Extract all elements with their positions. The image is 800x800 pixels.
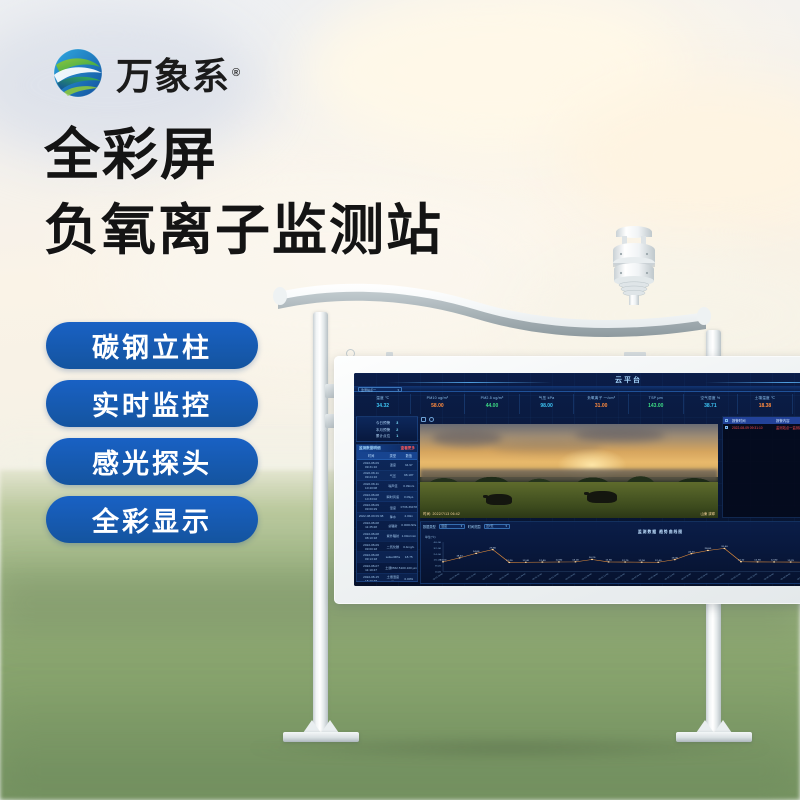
metric-value: 34.32 <box>356 402 410 411</box>
chart-filter-label-2: 时间范围 <box>468 524 481 529</box>
metric-value: 143.00 <box>629 402 683 411</box>
svg-text:12.70: 12.70 <box>622 560 629 562</box>
alarm-content: 监测站点一监测超标预警（超标值） <box>776 425 800 430</box>
stat-label: 累计点位 <box>376 433 390 440</box>
svg-text:12.80: 12.80 <box>556 560 563 562</box>
trend-chart-panel: 数据类型 温度 ▾ 时间范围 近7天 ▾ <box>420 521 800 584</box>
metric-cell-6: TSP μm143.00 <box>629 394 684 414</box>
metric-label: TSP μm <box>629 394 683 402</box>
svg-text:12.40: 12.40 <box>523 560 530 562</box>
metric-label: 负氧离子 一/cm³ <box>574 394 628 402</box>
data-table-more-link[interactable]: 查看更多 <box>401 446 415 451</box>
svg-text:08-04 00:00: 08-04 00:00 <box>631 573 643 581</box>
chevron-down-icon: ▾ <box>461 524 462 528</box>
svg-text:08-05 12:00: 08-05 12:00 <box>731 573 743 581</box>
table-row[interactable]: 2022-08-09 09:00:29湿度0736.36478 <box>357 502 417 513</box>
data-table-title: 监测数据明细 <box>359 446 381 451</box>
alarm-row[interactable]: 2022-08-09 09:31:10 监测站点一监测超标预警（超标值） <box>723 424 800 431</box>
svg-text:08-02 00:00: 08-02 00:00 <box>499 573 511 581</box>
video-location: 山東 濟寧 <box>700 511 715 516</box>
alarm-panel: 报警时间 报警内容 2022-08-09 09:31:10 监测站点一监测超标预… <box>722 416 800 518</box>
svg-text:08-04 06:00: 08-04 06:00 <box>648 573 660 581</box>
stat-value: 1 <box>396 433 398 440</box>
metric-label: 土壤温度 ℃ <box>738 394 792 402</box>
table-cell: 0736.36478 <box>401 502 417 513</box>
dashboard-title: 云平台 <box>354 375 800 385</box>
svg-text:12.60: 12.60 <box>539 560 546 562</box>
svg-text:08-03 00:00: 08-03 00:00 <box>565 573 577 581</box>
metric-label: 温度 ℃ <box>356 394 410 402</box>
alarm-table-header: 报警时间 报警内容 <box>723 417 800 424</box>
table-cell: 1.00m/min <box>401 531 417 542</box>
metric-label: 空气湿度 % <box>684 394 738 402</box>
table-row[interactable]: 2022-08-09 09:38降水2.00m <box>357 512 417 520</box>
table-cell: 土壤PM2.5 <box>385 562 400 573</box>
svg-text:08-04 18:00: 08-04 18:00 <box>681 573 693 581</box>
svg-text:08-01 06:00: 08-01 06:00 <box>449 573 461 581</box>
svg-text:24.20: 24.20 <box>688 552 695 554</box>
metric-cell-3: PM2.5 ug/m³44.00 <box>465 394 520 414</box>
svg-text:08-05 00:00: 08-05 00:00 <box>698 573 710 581</box>
metric-cell-8: 土壤温度 ℃18.38 <box>738 394 793 414</box>
chart-title: 监测数据 趋势曲线图 <box>421 530 800 535</box>
table-cell: 2022-08-08 11:35:28 <box>357 520 385 531</box>
svg-text:29.80: 29.80 <box>489 548 496 550</box>
svg-text:32.00: 32.00 <box>434 547 442 550</box>
svg-text:08-03 12:00: 08-03 12:00 <box>598 573 610 581</box>
table-cell: 降水 <box>385 512 400 520</box>
table-cell: 0.09m/s <box>401 481 417 492</box>
metric-value: 18.38 <box>738 402 792 411</box>
table-row[interactable]: 2022-08-11 10:40:08噪声值0.09m/s <box>357 481 417 492</box>
chart-range-value: 近7天 <box>486 524 493 528</box>
metric-label: 气压 kPa <box>520 394 574 402</box>
svg-text:08-02 06:00: 08-02 06:00 <box>516 573 528 581</box>
svg-text:24.00: 24.00 <box>434 552 442 555</box>
svg-text:12.50: 12.50 <box>638 560 645 562</box>
svg-text:08-05 18:00: 08-05 18:00 <box>747 573 759 581</box>
svg-text:08-03 06:00: 08-03 06:00 <box>582 573 594 581</box>
table-cell: 土壤湿度时 <box>385 573 400 582</box>
svg-text:12.80: 12.80 <box>771 560 778 562</box>
chevron-down-icon: ▾ <box>397 388 399 392</box>
table-cell: 34.97 <box>401 460 417 471</box>
table-row[interactable]: 2022-08-08 11:35:28总辐射0.0001hPa <box>357 520 417 531</box>
table-column-header: 时间 <box>357 452 385 460</box>
station-select-value: 监测站点一 <box>361 388 376 392</box>
metric-label: 噪声 db <box>793 394 800 402</box>
metric-cell-7: 空气湿度 %38.71 <box>684 394 739 414</box>
svg-text:08-05 06:00: 08-05 06:00 <box>714 573 726 581</box>
table-cell: 2022-08-11 10:40:08 <box>357 481 385 492</box>
svg-text:08-04 12:00: 08-04 12:00 <box>665 573 677 581</box>
metric-cell-1: 温度 ℃34.32 <box>356 394 411 414</box>
svg-text:08-01 18:00: 08-01 18:00 <box>482 573 494 581</box>
table-cell: 2022-08-08 08:10:18 <box>357 531 385 542</box>
chart-range-select[interactable]: 近7天 ▾ <box>484 524 510 529</box>
metric-cell-2: PM10 ug/m³58.00 <box>411 394 466 414</box>
table-cell: 0.00% <box>401 573 417 582</box>
table-cell: 总辐射 <box>385 520 400 531</box>
svg-text:08-02 18:00: 08-02 18:00 <box>549 573 561 581</box>
metric-label: PM2.5 ug/m³ <box>465 394 519 402</box>
table-column-header: 类型 <box>385 452 400 460</box>
metric-value: 44.00 <box>465 402 519 411</box>
table-cell: 2022-08-09 09:00:18 <box>357 541 385 552</box>
dashboard-topbar <box>354 386 800 392</box>
video-toolbar <box>420 416 718 423</box>
table-row[interactable]: 2022-08-08 10:33:02瞬时风速0.09μL <box>357 491 417 502</box>
table-cell: 2022-08-09 09:38 <box>357 512 385 520</box>
table-cell: 2022-08-08 10:33:02 <box>357 491 385 502</box>
metric-value: 58.00 <box>411 402 465 411</box>
svg-text:12.70: 12.70 <box>787 560 794 562</box>
svg-text:13.10: 13.10 <box>738 560 745 562</box>
svg-text:18.40: 18.40 <box>456 556 463 558</box>
svg-text:28.60: 28.60 <box>705 548 712 550</box>
metric-value: 48.00 <box>793 402 800 411</box>
alarm-col-content: 报警内容 <box>776 418 800 423</box>
table-cell: 0.4mg/L <box>401 541 417 552</box>
station-select[interactable]: 监测站点一 ▾ <box>358 387 402 392</box>
base-plate-right <box>676 726 752 742</box>
metric-value: 31.00 <box>574 402 628 411</box>
trend-line-chart: 0.008.0016.0024.0032.0040.0013.0008-01 0… <box>425 538 800 581</box>
table-row[interactable]: 2022-08-08 08:10:18紫外辐射1.00m/min <box>357 531 417 542</box>
dashboard-screen[interactable]: 云平台 监测站点一 ▾ admin 退出 温度 ℃34.32PM10 ug/m³… <box>354 373 800 586</box>
cow-2 <box>587 491 617 503</box>
svg-text:08-01 12:00: 08-01 12:00 <box>466 573 478 581</box>
metric-value: 38.71 <box>684 402 738 411</box>
checkbox-icon[interactable] <box>725 419 728 422</box>
table-cell: 2022-08-11 09:24:16 <box>357 470 385 481</box>
table-cell: 2022-08-08 09:13:18 <box>357 552 385 563</box>
monitoring-station: 云平台 监测站点一 ▾ admin 退出 温度 ℃34.32PM10 ug/m³… <box>0 0 800 800</box>
alarm-time: 2022-08-09 09:31:10 <box>732 426 772 430</box>
svg-text:08-01 00:00: 08-01 00:00 <box>433 573 445 581</box>
table-cell: 二氧化碳 <box>385 541 400 552</box>
svg-text:16.20: 16.20 <box>589 557 596 559</box>
table-row[interactable]: 2022-08-07 11:10:47土壤PM2.5100.100 μm <box>357 562 417 573</box>
checkbox-icon[interactable] <box>725 426 728 429</box>
table-cell: 2022-08-07 11:10:47 <box>357 562 385 573</box>
table-cell: 噪声值 <box>385 481 400 492</box>
table-cell: 温度 <box>385 460 400 471</box>
stat-row-3: 累计点位1 <box>359 433 415 440</box>
svg-text:16.00: 16.00 <box>672 558 679 560</box>
led-display-monitor: 云平台 监测站点一 ▾ admin 退出 温度 ℃34.32PM10 ug/m³… <box>334 356 800 604</box>
svg-text:31.40: 31.40 <box>721 546 728 548</box>
video-panel: 时间: 2022/7/13 06:42 山東 濟寧 <box>420 416 718 518</box>
chart-filter-label-1: 数据类型 <box>423 524 436 529</box>
table-cell: 18.75 <box>401 552 417 563</box>
svg-text:08-02 12:00: 08-02 12:00 <box>532 573 544 581</box>
table-cell: soilecMPa <box>385 552 400 563</box>
svg-text:12.90: 12.90 <box>754 560 761 562</box>
metric-cell-4: 气压 kPa98.00 <box>520 394 575 414</box>
chart-toolbar: 数据类型 温度 ▾ 时间范围 近7天 ▾ <box>421 522 800 530</box>
svg-text:12.40: 12.40 <box>655 560 662 562</box>
table-cell: 2022-08-09 09:00:29 <box>357 502 385 513</box>
table-column-header: 数值 <box>401 452 417 460</box>
metric-strip: 温度 ℃34.32PM10 ug/m³58.00PM2.5 ug/m³44.00… <box>356 394 800 414</box>
data-table-header: 监测数据明细 查看更多 <box>357 445 417 452</box>
svg-text:08-06 06:00: 08-06 06:00 <box>780 573 792 581</box>
monitoring-data-table: 时间类型数值 2022-08-09 09:31:10温度34.972022-08… <box>357 452 417 582</box>
table-cell: 湿度 <box>385 502 400 513</box>
svg-text:12.90: 12.90 <box>605 560 612 562</box>
svg-text:24.60: 24.60 <box>473 551 480 553</box>
table-row[interactable]: 2022-08-09 09:00:18二氧化碳0.4mg/L <box>357 541 417 552</box>
chart-type-select[interactable]: 温度 ▾ <box>439 524 465 529</box>
table-row[interactable]: 2022-08-11 09:24:16气压98.187 <box>357 470 417 481</box>
left-column: 今日预警3本月预警2累计点位1 监测数据明细 查看更多 时间类型数值 2022-… <box>356 416 418 584</box>
svg-text:12.20: 12.20 <box>506 560 513 562</box>
table-row[interactable]: 2022-08-15 15:20:38土壤湿度时0.00% <box>357 573 417 582</box>
svg-text:08-06 00:00: 08-06 00:00 <box>764 573 776 581</box>
table-cell: 2022-08-09 09:31:10 <box>357 460 385 471</box>
metric-cell-5: 负氧离子 一/cm³31.00 <box>574 394 629 414</box>
fullscreen-icon[interactable] <box>421 417 426 422</box>
svg-text:13.00: 13.00 <box>440 560 447 562</box>
svg-text:0.00: 0.00 <box>435 570 441 573</box>
carbon-steel-post-left <box>313 312 328 732</box>
table-cell: 100.100 μm <box>401 562 417 573</box>
metric-cell-9: 噪声 db48.00 <box>793 394 800 414</box>
metric-value: 98.00 <box>520 402 574 411</box>
alarm-col-time: 报警时间 <box>732 418 772 423</box>
table-cell: 紫外辐射 <box>385 531 400 542</box>
data-table-panel: 监测数据明细 查看更多 时间类型数值 2022-08-09 09:31:10温度… <box>356 444 418 582</box>
svg-text:8.00: 8.00 <box>435 564 441 567</box>
product-banner: 万象系® 全彩屏 负氧离子监测站 碳钢立柱 实时监控 感光探头 全彩显示 <box>0 0 800 800</box>
table-cell: 2022-08-15 15:20:38 <box>357 573 385 582</box>
table-row[interactable]: 2022-08-09 09:31:10温度34.97 <box>357 460 417 471</box>
table-cell: 98.187 <box>401 470 417 481</box>
table-cell: 0.09μL <box>401 491 417 502</box>
chart-type-value: 温度 <box>441 524 447 528</box>
table-cell: 2.00m <box>401 512 417 520</box>
chevron-down-icon: ▾ <box>506 524 507 528</box>
live-camera-feed[interactable]: 时间: 2022/7/13 06:42 山東 濟寧 <box>420 424 718 518</box>
snapshot-icon[interactable] <box>429 417 434 422</box>
cow-1 <box>486 494 512 505</box>
table-row[interactable]: 2022-08-08 09:13:18soilecMPa18.75 <box>357 552 417 563</box>
video-timestamp: 时间: 2022/7/13 06:42 <box>423 511 460 516</box>
table-cell: 瞬时风速 <box>385 491 400 502</box>
table-cell: 0.0001hPa <box>401 520 417 531</box>
base-plate-left <box>283 726 359 742</box>
svg-text:40.00: 40.00 <box>434 541 442 544</box>
table-cell: 气压 <box>385 470 400 481</box>
metric-label: PM10 ug/m³ <box>411 394 465 402</box>
svg-text:08-03 18:00: 08-03 18:00 <box>615 573 627 581</box>
svg-text:13.00: 13.00 <box>572 560 579 562</box>
ultrasonic-weather-sensor <box>601 223 667 305</box>
stats-panel: 今日预警3本月预警2累计点位1 <box>356 416 418 442</box>
chart-plot-area: 单位(℃) 0.008.0016.0024.0032.0040.0013.000… <box>425 536 800 581</box>
